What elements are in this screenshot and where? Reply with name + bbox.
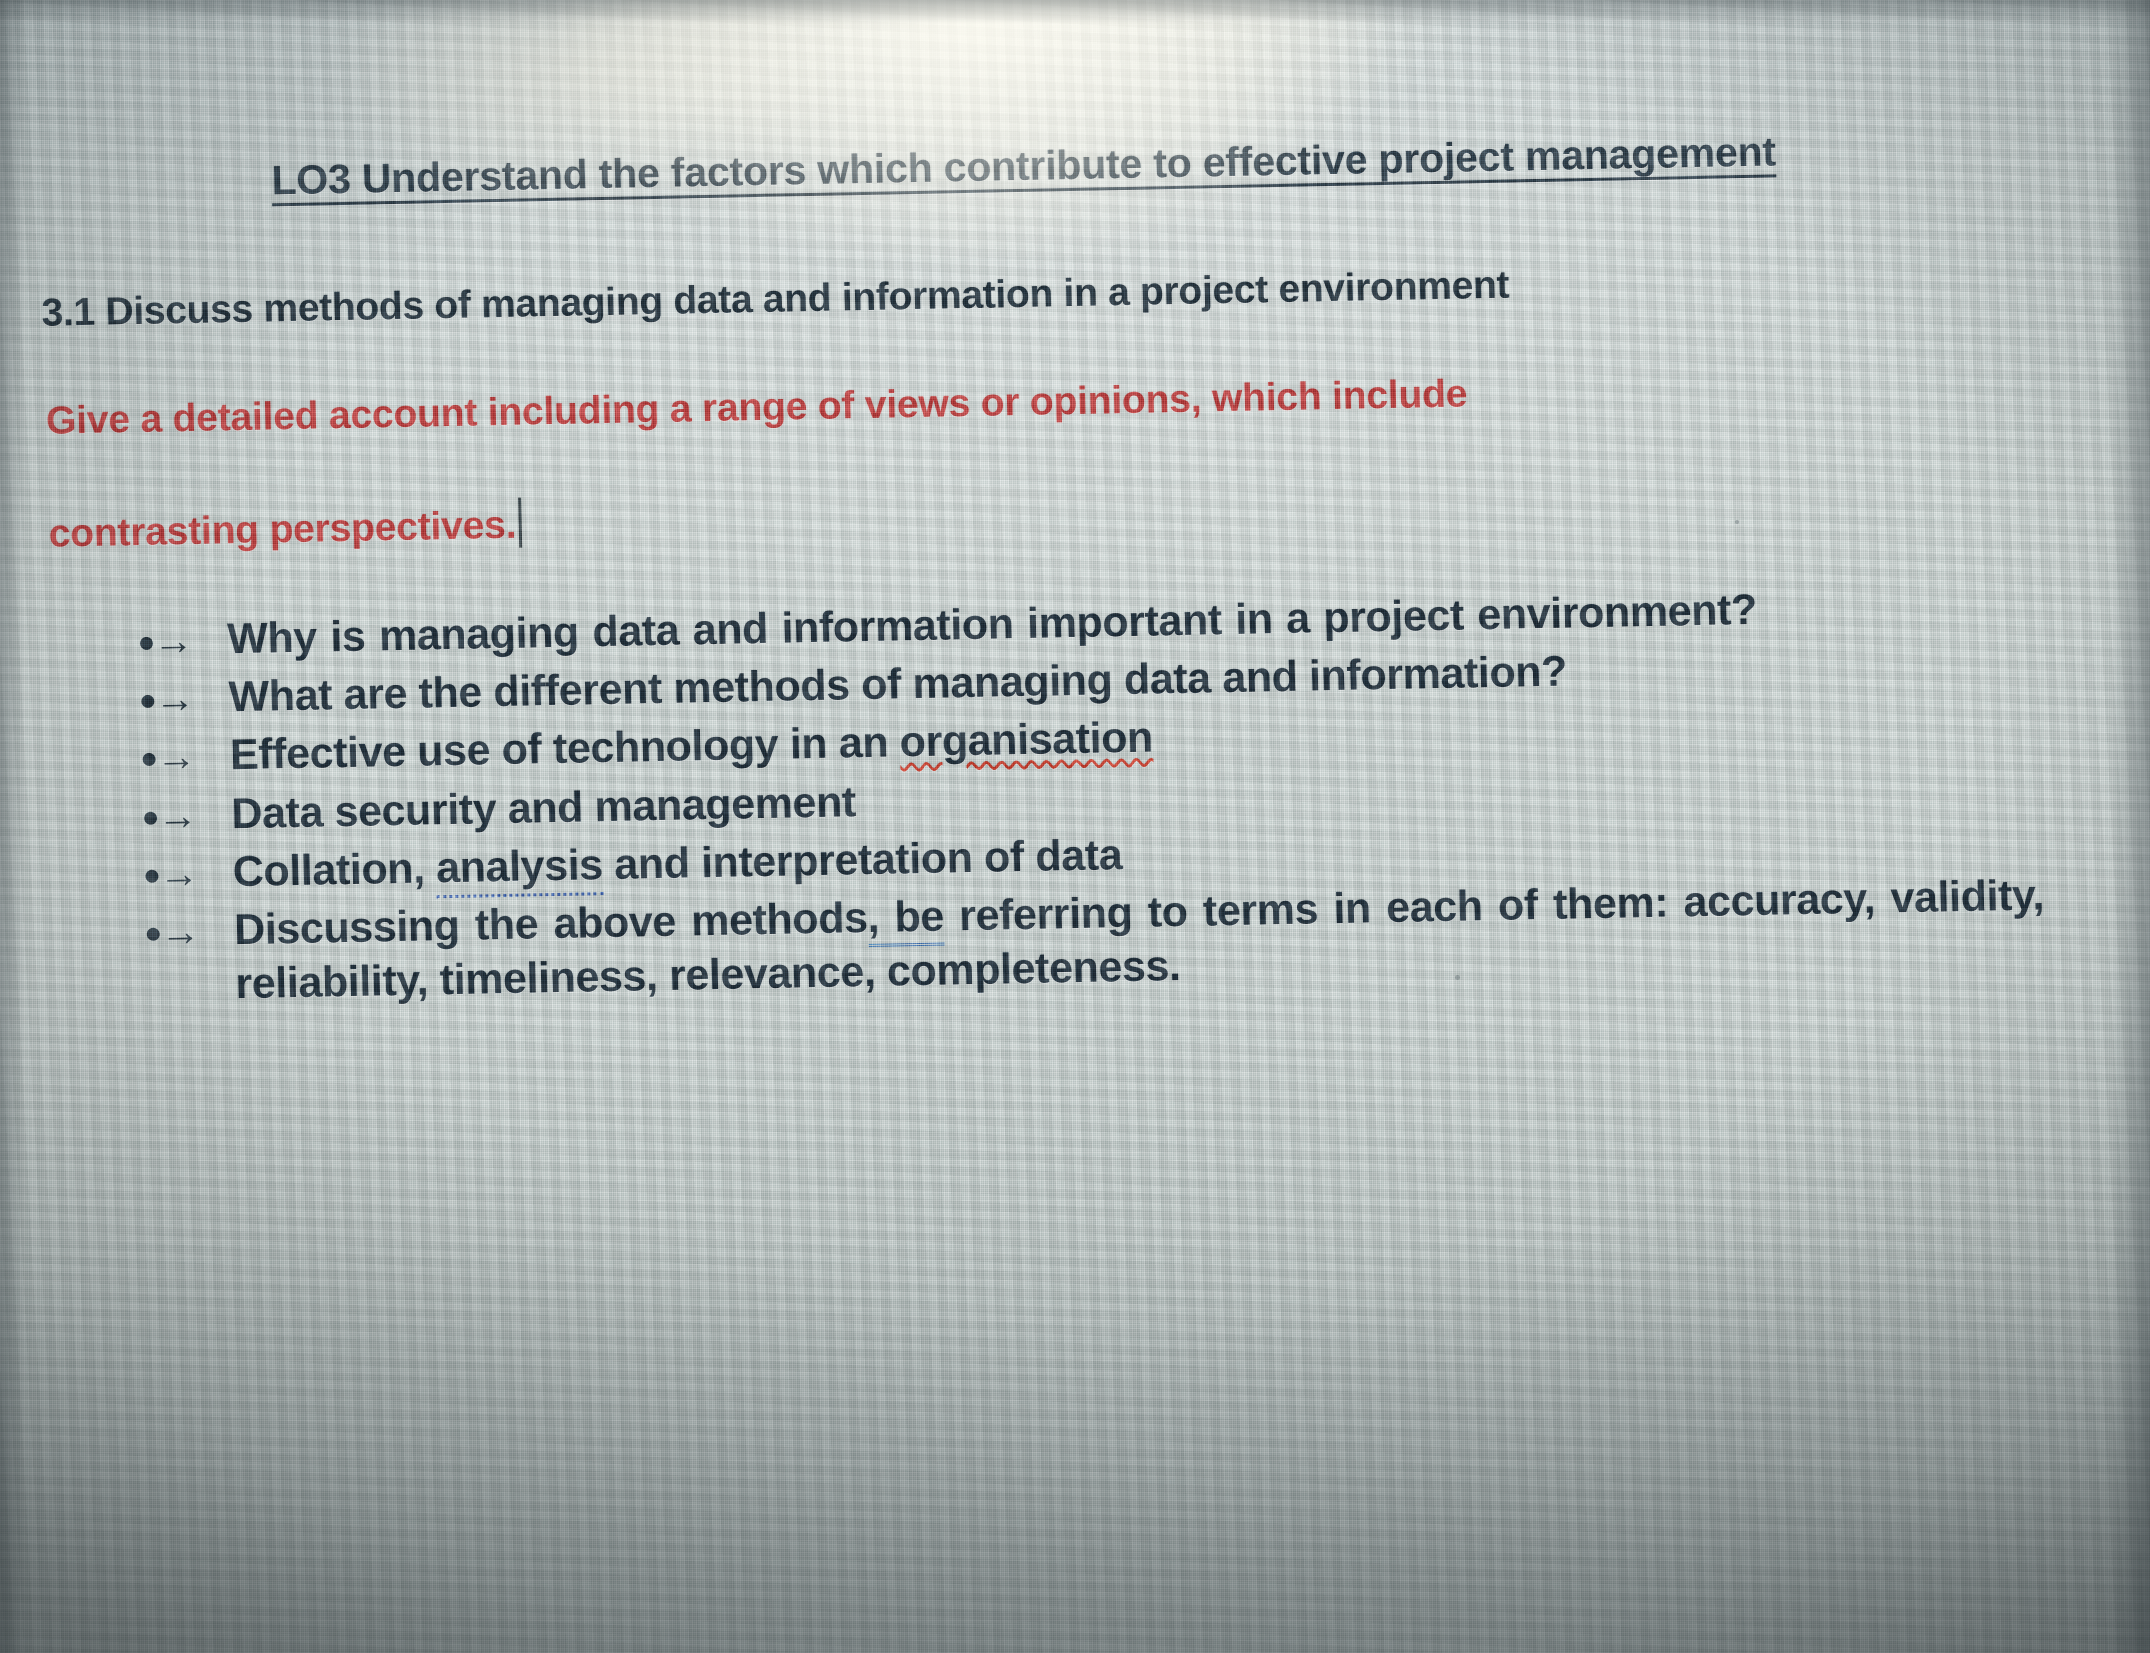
list-item-text: Data security and management [231,775,857,841]
bullet-marker-icon: ●→ [137,612,228,668]
bullet-dot-icon: ● [141,800,158,833]
bullet-dot-icon: ● [137,626,154,659]
tab-arrow-icon: → [160,910,199,955]
screen-photo: LO3 Understand the factors which contrib… [0,0,2150,1653]
command-verb-definition-line-2-text: contrasting perspectives. [48,504,516,556]
tab-arrow-icon: → [154,677,193,722]
bullet-marker-icon: ●→ [139,729,230,785]
spelling-error-organisation[interactable]: organisation [899,714,1153,767]
text-cursor-caret [518,498,522,548]
list-item-text-before: Collation, [232,844,437,896]
bullet-marker-icon: ●→ [138,670,229,726]
bullet-list: ●→ Why is managing data and information … [137,578,2046,1018]
bullet-dot-icon: ● [142,858,159,891]
bullet-dot-icon: ● [138,684,155,717]
bullet-dot-icon: ● [144,916,161,949]
document-heading-lo3: LO3 Understand the factors which contrib… [271,128,1776,204]
bullet-dot-icon: ● [140,742,157,775]
bullet-marker-icon: ●→ [144,903,235,959]
assessment-criterion-3-1: 3.1 Discuss methods of managing data and… [41,264,1510,336]
list-item-text-after: and interpretation of data [602,831,1123,889]
tab-arrow-icon: → [153,619,192,664]
list-item-text-before: Effective use of technology in an [229,719,900,780]
list-item-text-before: Discussing the above methods [234,894,869,954]
word-document-body: LO3 Understand the factors which contrib… [0,0,2150,1653]
command-verb-definition-line-2: contrasting perspectives. [48,498,522,557]
tab-arrow-icon: → [156,735,195,780]
grammar-suggestion-be[interactable]: , be [867,892,945,946]
bullet-marker-icon: ●→ [142,845,233,901]
command-verb-definition-line-1: Give a detailed account including a rang… [46,372,1468,443]
grammar-suggestion-analysis[interactable]: analysis [436,841,604,898]
bullet-marker-icon: ●→ [141,787,232,843]
tab-arrow-icon: → [157,793,196,838]
tab-arrow-icon: → [158,852,197,897]
